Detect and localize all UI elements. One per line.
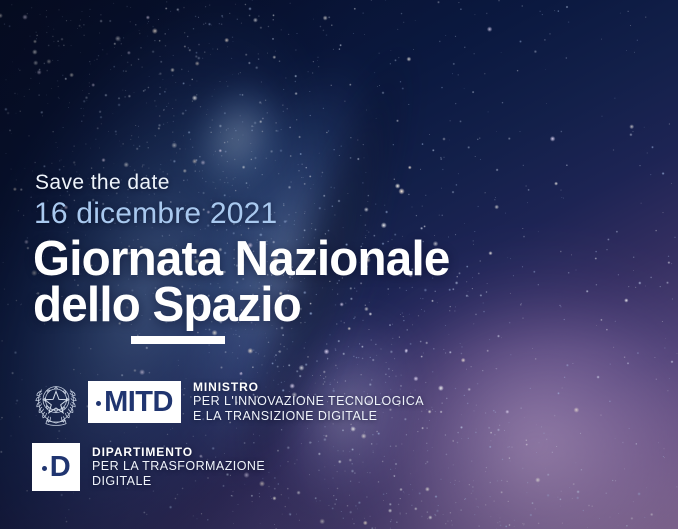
- department-name-block: DIPARTIMENTO PER LA TRASFORMAZIONE DIGIT…: [92, 445, 265, 489]
- department-title: DIPARTIMENTO: [92, 445, 265, 459]
- save-the-date-kicker: Save the date: [35, 172, 170, 193]
- event-date: 16 dicembre 2021: [34, 199, 277, 229]
- dipartimento-wordmark-box: D: [32, 443, 80, 491]
- title-underline-rule: [131, 336, 225, 344]
- ministry-subtitle: PER L'INNOVAZIONE TECNOLOGICA E LA TRANS…: [193, 394, 424, 424]
- ministry-subtitle-line-2: E LA TRANSIZIONE DIGITALE: [193, 409, 424, 424]
- headline-line-1: Giornata Nazionale: [33, 236, 450, 282]
- department-subtitle-line-1: PER LA TRASFORMAZIONE: [92, 459, 265, 474]
- mitd-wordmark: MITD: [96, 388, 173, 417]
- ministry-title: MINISTRO: [193, 380, 424, 394]
- mitd-dot-icon: [96, 401, 101, 406]
- mitd-wordmark-text: MITD: [104, 388, 173, 417]
- department-subtitle-line-2: DIGITALE: [92, 474, 265, 489]
- dipartimento-dot-icon: [42, 466, 47, 471]
- ministry-subtitle-line-1: PER L'INNOVAZIONE TECNOLOGICA: [193, 394, 424, 409]
- dipartimento-wordmark: D: [42, 453, 70, 482]
- department-subtitle: PER LA TRASFORMAZIONE DIGITALE: [92, 459, 265, 489]
- department-logo-lockup: D DIPARTIMENTO PER LA TRASFORMAZIONE DIG…: [32, 443, 265, 491]
- ministry-logo-lockup: MITD MINISTRO PER L'INNOVAZIONE TECNOLOG…: [32, 377, 424, 427]
- headline-line-2: dello Spazio: [33, 282, 450, 328]
- dipartimento-wordmark-text: D: [50, 453, 70, 482]
- poster-canvas: Save the date 16 dicembre 2021 Giornata …: [0, 0, 678, 529]
- page-title: Giornata Nazionale dello Spazio: [33, 236, 450, 328]
- ministry-name-block: MINISTRO PER L'INNOVAZIONE TECNOLOGICA E…: [193, 380, 424, 424]
- poster-content: Save the date 16 dicembre 2021 Giornata …: [0, 0, 678, 529]
- italian-republic-emblem-icon: [32, 377, 80, 427]
- mitd-wordmark-box: MITD: [88, 381, 181, 423]
